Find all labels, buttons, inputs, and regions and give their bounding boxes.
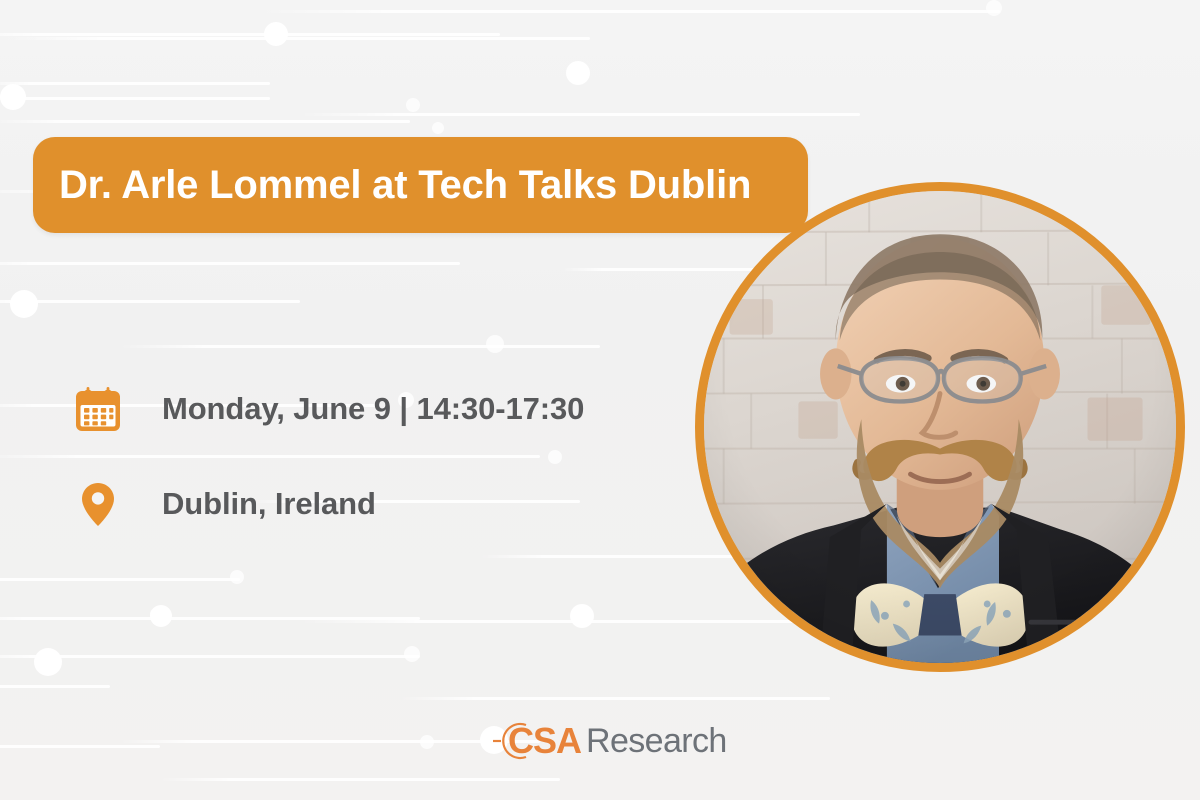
detail-label-location: Dublin, Ireland xyxy=(162,486,376,522)
event-promo-poster: Dr. Arle Lommel at Tech Talks Dublin xyxy=(0,0,1200,800)
location-pin-icon xyxy=(72,478,124,530)
detail-label-date: Monday, June 9 | 14:30-17:30 xyxy=(162,391,584,427)
logo-secondary-text: Research xyxy=(586,722,727,761)
detail-row-location: Dublin, Ireland xyxy=(72,473,584,535)
title-banner: Dr. Arle Lommel at Tech Talks Dublin xyxy=(33,137,808,233)
csa-research-logo: CSA Research xyxy=(492,718,727,764)
calendar-icon xyxy=(72,383,124,435)
event-details: Monday, June 9 | 14:30-17:30 Dublin, Ire… xyxy=(72,378,584,535)
detail-row-date: Monday, June 9 | 14:30-17:30 xyxy=(72,378,584,440)
speaker-portrait xyxy=(695,182,1185,672)
logo-primary-text: CSA xyxy=(508,720,581,762)
page-title: Dr. Arle Lommel at Tech Talks Dublin xyxy=(33,163,751,208)
